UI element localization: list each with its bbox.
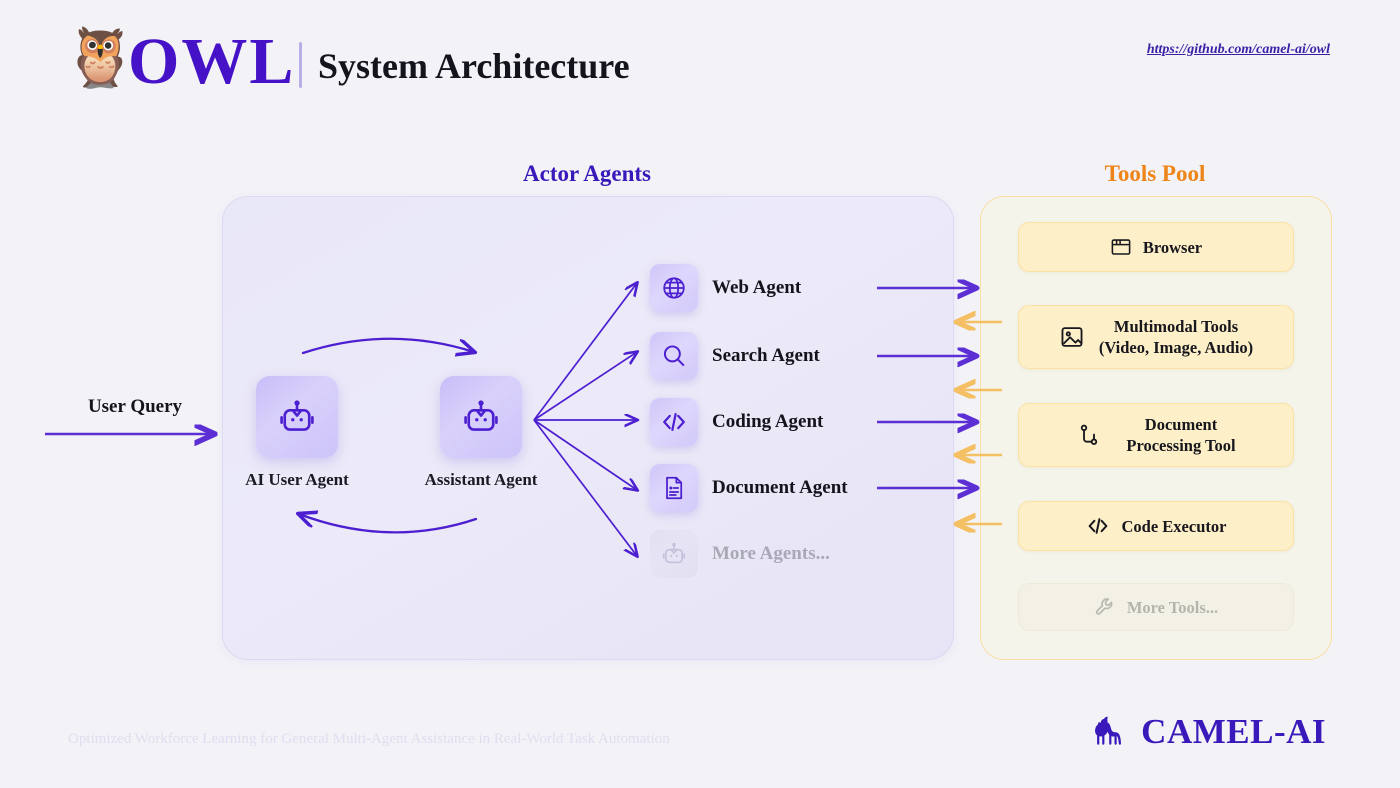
owl-icon: 🦉 bbox=[64, 28, 136, 86]
camel-icon bbox=[1093, 714, 1133, 750]
tool-card-more-tools[interactable]: More Tools... bbox=[1018, 583, 1294, 631]
role-row-search-agent[interactable]: Search Agent bbox=[650, 332, 820, 380]
robot-icon bbox=[460, 396, 502, 438]
assistant-agent-label: Assistant Agent bbox=[381, 470, 581, 490]
git-branch-icon bbox=[1076, 422, 1102, 448]
tool-label-line1: Multimodal Tools bbox=[1114, 317, 1238, 336]
tool-label-line2: (Video, Image, Audio) bbox=[1099, 338, 1253, 357]
actor-agents-heading: Actor Agents bbox=[222, 161, 952, 187]
role-label: Web Agent bbox=[712, 277, 801, 299]
ai-user-agent-tile[interactable] bbox=[256, 376, 338, 458]
assistant-agent-tile[interactable] bbox=[440, 376, 522, 458]
robot-icon bbox=[276, 396, 318, 438]
magnifier-icon bbox=[650, 332, 698, 380]
tool-label: Document Processing Tool bbox=[1126, 414, 1235, 456]
image-icon bbox=[1059, 324, 1085, 350]
tool-card-document-processing[interactable]: Document Processing Tool bbox=[1018, 403, 1294, 467]
tagline: Optimized Workforce Learning for General… bbox=[68, 731, 670, 748]
robot-icon bbox=[650, 530, 698, 578]
role-row-document-agent[interactable]: Document Agent bbox=[650, 464, 848, 512]
title-divider bbox=[299, 42, 302, 88]
camel-ai-wordmark: CAMEL-AI bbox=[1141, 712, 1326, 752]
role-label: Search Agent bbox=[712, 345, 820, 367]
tool-label: More Tools... bbox=[1127, 597, 1218, 618]
page-header: 🦉 OWL System Architecture https://github… bbox=[0, 0, 1400, 120]
camel-ai-logo: CAMEL-AI bbox=[1093, 712, 1326, 752]
role-row-more-agents[interactable]: More Agents... bbox=[650, 530, 830, 578]
tool-label: Multimodal Tools (Video, Image, Audio) bbox=[1099, 316, 1253, 358]
tool-label: Code Executor bbox=[1122, 516, 1227, 537]
tools-pool-heading: Tools Pool bbox=[980, 161, 1330, 187]
ai-user-agent-label: AI User Agent bbox=[197, 470, 397, 490]
tool-label-line2: Processing Tool bbox=[1126, 436, 1235, 455]
role-label: Coding Agent bbox=[712, 411, 823, 433]
tool-card-multimodal-tools[interactable]: Multimodal Tools (Video, Image, Audio) bbox=[1018, 305, 1294, 369]
page-title: System Architecture bbox=[318, 44, 630, 88]
role-label: Document Agent bbox=[712, 477, 848, 499]
repo-url-link[interactable]: https://github.com/camel-ai/owl bbox=[1147, 42, 1330, 58]
role-row-web-agent[interactable]: Web Agent bbox=[650, 264, 801, 312]
role-row-coding-agent[interactable]: Coding Agent bbox=[650, 398, 823, 446]
brand-name: OWL bbox=[128, 26, 295, 98]
user-query-label: User Query bbox=[45, 396, 225, 418]
browser-window-icon bbox=[1110, 236, 1132, 258]
tool-label-line1: Document bbox=[1145, 415, 1217, 434]
role-label: More Agents... bbox=[712, 543, 830, 565]
globe-icon bbox=[650, 264, 698, 312]
code-brackets-icon bbox=[650, 398, 698, 446]
wrench-icon bbox=[1094, 596, 1116, 618]
tool-card-code-executor[interactable]: Code Executor bbox=[1018, 501, 1294, 551]
code-brackets-icon bbox=[1086, 514, 1110, 538]
tool-card-browser[interactable]: Browser bbox=[1018, 222, 1294, 272]
tool-label: Browser bbox=[1143, 237, 1202, 258]
document-icon bbox=[650, 464, 698, 512]
